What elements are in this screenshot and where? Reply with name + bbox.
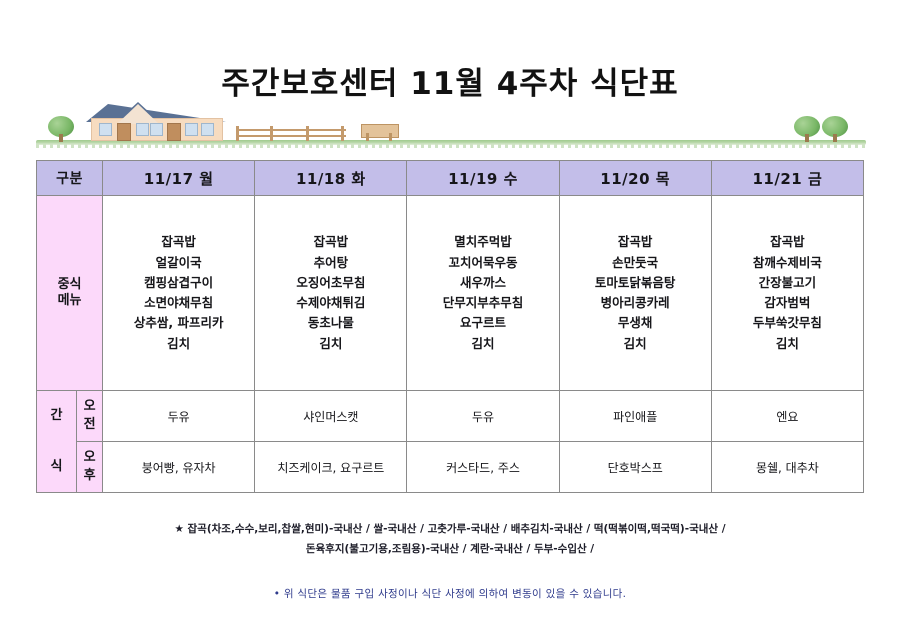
snack-label: 간 식 (37, 391, 77, 493)
header-day-fri: 11/21 금 (711, 161, 863, 196)
lunch-cell-wed: 멸치주먹밥 꼬치어묵우동 새우까스 단무지부추무침 요구르트 김치 (407, 196, 559, 391)
menu-item: 손만둣국 (562, 253, 709, 273)
menu-item: 새우까스 (409, 273, 556, 293)
table-header-row: 구분 11/17 월 11/18 화 11/19 수 11/20 목 11/21… (37, 161, 864, 196)
disclaimer-note: • 위 식단은 물품 구입 사정이나 식단 사정에 의하여 변동이 있을 수 있… (36, 586, 864, 601)
lunch-cell-thu: 잡곡밥 손만둣국 토마토닭볶음탕 병아리콩카레 무생채 김치 (559, 196, 711, 391)
header-day-thu: 11/20 목 (559, 161, 711, 196)
origin-info: ★ 잡곡(차조,수수,보리,찹쌀,현미)-국내산 / 쌀-국내산 / 고춧가루-… (36, 520, 864, 560)
menu-item: 토마토닭볶음탕 (562, 273, 709, 293)
tree-icon (794, 116, 820, 142)
lunch-row: 중식 메뉴 잡곡밥 얼갈이국 캠핑삼겹구이 소면야채무침 상추쌈, 파프리카 김… (37, 196, 864, 391)
snack-afternoon-tue: 치즈케이크, 요구르트 (255, 442, 407, 493)
menu-item: 꼬치어묵우동 (409, 253, 556, 273)
origin-line-1: ★ 잡곡(차조,수수,보리,찹쌀,현미)-국내산 / 쌀-국내산 / 고춧가루-… (36, 520, 864, 540)
snack-afternoon-thu: 단호박스프 (559, 442, 711, 493)
lunch-label: 중식 메뉴 (37, 196, 103, 391)
menu-item: 단무지부추무침 (409, 293, 556, 313)
menu-item: 잡곡밥 (562, 232, 709, 252)
menu-item: 무생채 (562, 313, 709, 333)
menu-item: 동초나물 (257, 313, 404, 333)
menu-item: 간장불고기 (714, 273, 861, 293)
menu-item: 멸치주먹밥 (409, 232, 556, 252)
snack-afternoon-mon: 붕어빵, 유자차 (103, 442, 255, 493)
meal-plan-table: 구분 11/17 월 11/18 화 11/19 수 11/20 목 11/21… (36, 160, 864, 493)
meal-plan-page: 주간보호센터 11월 4주차 식단표 (0, 0, 900, 634)
menu-item: 김치 (105, 334, 252, 354)
farmhouse-icon (91, 104, 221, 141)
snack-afternoon-fri: 몽쉘, 대추차 (711, 442, 863, 493)
page-title: 주간보호센터 11월 4주차 식단표 (0, 58, 900, 103)
lunch-cell-mon: 잡곡밥 얼갈이국 캠핑삼겹구이 소면야채무침 상추쌈, 파프리카 김치 (103, 196, 255, 391)
tree-icon (822, 116, 848, 142)
snack-morning-thu: 파인애플 (559, 391, 711, 442)
lunch-cell-tue: 잡곡밥 추어탕 오징어초무침 수제야채튀김 동초나물 김치 (255, 196, 407, 391)
menu-item: 김치 (409, 334, 556, 354)
lunch-label-line1: 중식 (38, 277, 101, 293)
menu-item: 잡곡밥 (105, 232, 252, 252)
lunch-label-line2: 메뉴 (38, 293, 101, 309)
snack-afternoon-label: 오 후 (77, 442, 103, 493)
snack-morning-label: 오 전 (77, 391, 103, 442)
menu-item: 얼갈이국 (105, 253, 252, 273)
fence-icon (236, 126, 346, 141)
menu-item: 김치 (257, 334, 404, 354)
menu-item: 감자범벅 (714, 293, 861, 313)
snack-morning-fri: 엔요 (711, 391, 863, 442)
signpost-icon (361, 124, 397, 141)
snack-afternoon-wed: 커스타드, 주스 (407, 442, 559, 493)
header-gubun: 구분 (37, 161, 103, 196)
menu-item: 잡곡밥 (257, 232, 404, 252)
menu-item: 캠핑삼겹구이 (105, 273, 252, 293)
menu-item: 병아리콩카레 (562, 293, 709, 313)
snack-morning-wed: 두유 (407, 391, 559, 442)
lunch-cell-fri: 잡곡밥 참깨수제비국 간장불고기 감자범벅 두부쑥갓무침 김치 (711, 196, 863, 391)
menu-item: 참깨수제비국 (714, 253, 861, 273)
snack-label-line1: 간 (38, 408, 75, 424)
menu-item: 추어탕 (257, 253, 404, 273)
menu-item: 오징어초무침 (257, 273, 404, 293)
menu-item: 잡곡밥 (714, 232, 861, 252)
header-day-tue: 11/18 화 (255, 161, 407, 196)
header-day-wed: 11/19 수 (407, 161, 559, 196)
tree-icon (48, 116, 74, 142)
menu-item: 요구르트 (409, 313, 556, 333)
menu-item: 김치 (714, 334, 861, 354)
header-illustration (36, 104, 866, 148)
snack-morning-mon: 두유 (103, 391, 255, 442)
menu-item: 상추쌈, 파프리카 (105, 313, 252, 333)
origin-line-2: 돈육후지(불고기용,조림용)-국내산 / 계란-국내산 / 두부-수입산 / (36, 540, 864, 560)
header-day-mon: 11/17 월 (103, 161, 255, 196)
menu-item: 소면야채무침 (105, 293, 252, 313)
page-header: 주간보호센터 11월 4주차 식단표 (0, 0, 900, 150)
snack-morning-row: 간 식 오 전 두유 샤인머스캣 두유 파인애플 엔요 (37, 391, 864, 442)
snack-label-line2: 식 (38, 459, 75, 475)
snack-afternoon-row: 오 후 붕어빵, 유자차 치즈케이크, 요구르트 커스타드, 주스 단호박스프 … (37, 442, 864, 493)
menu-item: 수제야채튀김 (257, 293, 404, 313)
menu-item: 김치 (562, 334, 709, 354)
menu-item: 두부쑥갓무침 (714, 313, 861, 333)
snack-morning-tue: 샤인머스캣 (255, 391, 407, 442)
